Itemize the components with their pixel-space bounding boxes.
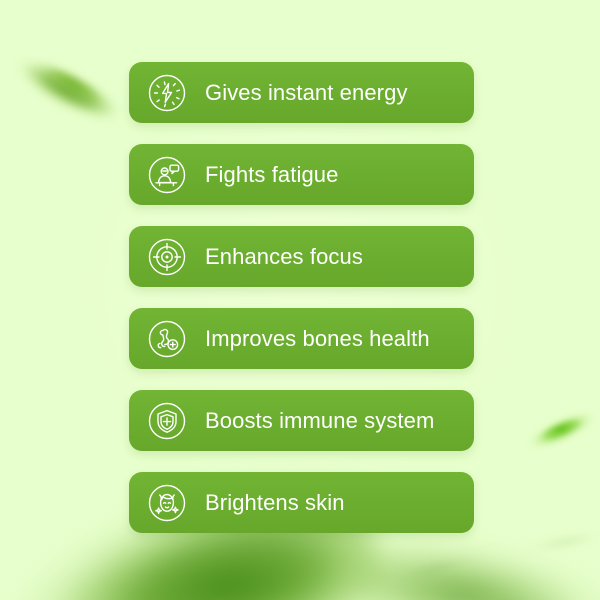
benefit-label: Brightens skin [205, 492, 345, 514]
benefit-item-brightens-skin[interactable]: Brightens skin [129, 472, 474, 533]
benefit-label: Improves bones health [205, 328, 430, 350]
benefit-label: Boosts immune system [205, 410, 434, 432]
leaf-top-left-core-icon [25, 48, 113, 118]
infographic-canvas: Gives instant energy Fights fatigue [0, 0, 600, 600]
leaf-faint-b-icon [519, 522, 600, 561]
leaf-right-small-icon [511, 390, 600, 472]
benefit-item-boosts-immune-system[interactable]: Boosts immune system [129, 390, 474, 451]
leaf-right-small-core-icon [534, 409, 589, 448]
leaf-faint-a-icon [378, 543, 491, 595]
benefit-item-fights-fatigue[interactable]: Fights fatigue [129, 144, 474, 205]
benefit-list: Gives instant energy Fights fatigue [129, 62, 474, 533]
energy-bolt-icon [145, 71, 189, 115]
benefit-item-improves-bones-health[interactable]: Improves bones health [129, 308, 474, 369]
tired-person-icon [145, 153, 189, 197]
leaf-top-left-icon [0, 27, 137, 150]
target-focus-icon [145, 235, 189, 279]
benefit-label: Enhances focus [205, 246, 363, 268]
benefit-item-gives-instant-energy[interactable]: Gives instant energy [129, 62, 474, 123]
shield-plus-icon [145, 399, 189, 443]
bone-joint-icon [145, 317, 189, 361]
benefit-label: Gives instant energy [205, 82, 408, 104]
benefit-item-enhances-focus[interactable]: Enhances focus [129, 226, 474, 287]
glowing-face-icon [145, 481, 189, 525]
benefit-label: Fights fatigue [205, 164, 338, 186]
leaf-faint-c-icon [439, 583, 581, 600]
